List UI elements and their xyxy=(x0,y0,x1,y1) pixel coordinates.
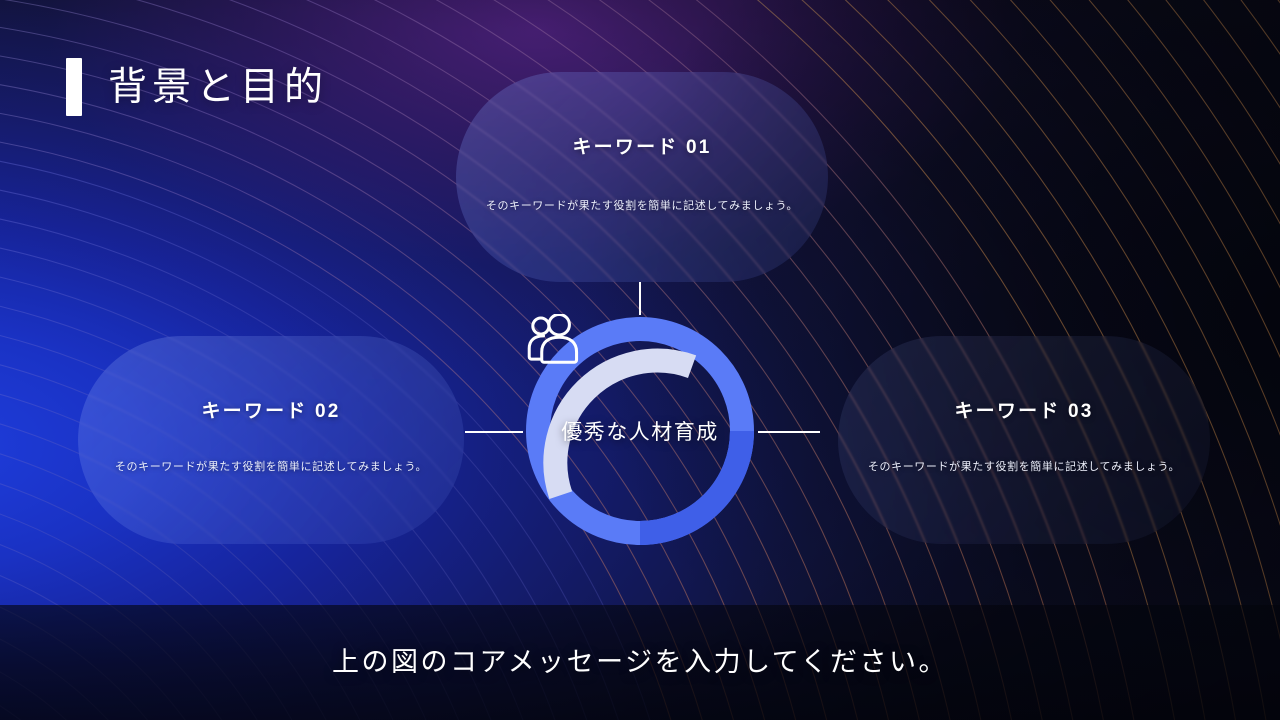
keyword-card-03-title: キーワード 03 xyxy=(954,396,1093,423)
keyword-card-03-body: そのキーワードが果たす役割を簡単に記述してみましょう。 xyxy=(868,458,1180,474)
footer-caption: 上の図のコアメッセージを入力してください。 xyxy=(0,640,1280,679)
connector-line-left xyxy=(465,431,523,433)
people-icon xyxy=(523,314,581,364)
keyword-card-02[interactable]: キーワード 02 そのキーワードが果たす役割を簡単に記述してみましょう。 xyxy=(78,336,464,544)
keyword-card-02-body: そのキーワードが果たす役割を簡単に記述してみましょう。 xyxy=(115,458,427,474)
title-accent-bar xyxy=(66,58,82,116)
page-title: 背景と目的 xyxy=(108,68,328,107)
keyword-card-01[interactable]: キーワード 01 そのキーワードが果たす役割を簡単に記述してみましょう。 xyxy=(456,72,828,282)
slide-canvas: 背景と目的 キーワード 01 そのキーワードが果たす役割を簡単に記述してみましょ… xyxy=(0,0,1280,720)
connector-line-right xyxy=(758,431,820,433)
keyword-card-01-body: そのキーワードが果たす役割を簡単に記述してみましょう。 xyxy=(486,197,798,213)
keyword-card-03[interactable]: キーワード 03 そのキーワードが果たす役割を簡単に記述してみましょう。 xyxy=(838,336,1210,544)
keyword-card-02-title: キーワード 02 xyxy=(201,396,340,423)
core-content: 優秀な人材育成 xyxy=(523,314,757,548)
core-label: 優秀な人材育成 xyxy=(561,416,719,446)
slide-header: 背景と目的 xyxy=(66,58,328,116)
core-donut[interactable]: 優秀な人材育成 xyxy=(523,314,757,548)
keyword-card-01-title: キーワード 01 xyxy=(572,132,711,159)
connector-line-top xyxy=(639,282,641,315)
